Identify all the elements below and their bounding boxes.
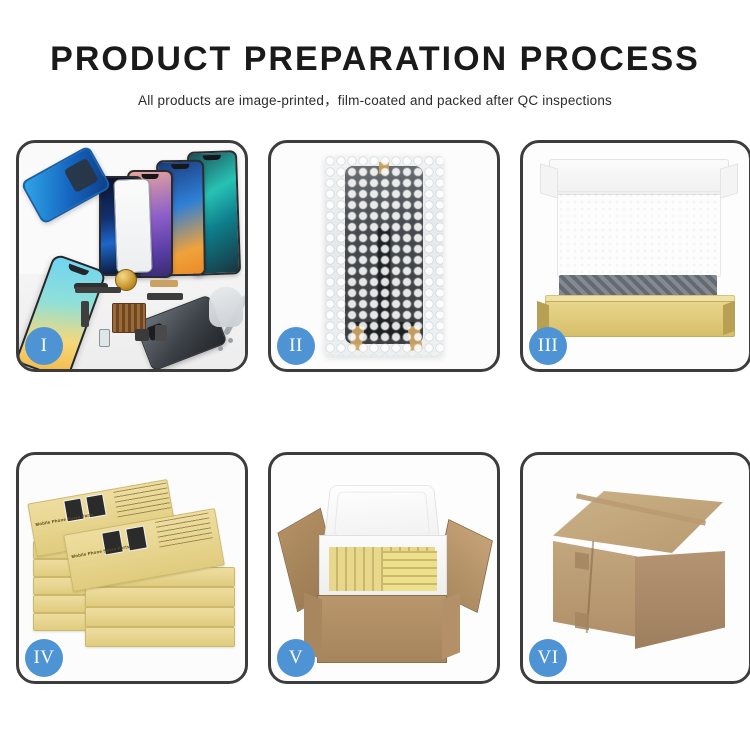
step-badge-6: VI — [529, 639, 567, 677]
step-panel-6: VI — [520, 452, 750, 684]
step-badge-1: I — [25, 327, 63, 365]
notch — [203, 155, 222, 161]
notch — [67, 264, 89, 277]
small-component-part — [155, 325, 167, 341]
screw-part — [228, 338, 233, 343]
technician-hand — [209, 287, 243, 327]
step-panel-3: III — [520, 140, 750, 372]
small-component-part — [135, 329, 149, 341]
bubble-wrap-bag — [325, 156, 443, 356]
step-panel-5: V — [268, 452, 500, 684]
flex-cable-part — [75, 287, 121, 293]
carton-body — [317, 595, 447, 663]
step-panel-2: II — [268, 140, 500, 372]
stacked-box — [85, 627, 235, 647]
gold-connector-part — [150, 280, 178, 287]
page-title: PRODUCT PREPARATION PROCESS — [0, 0, 750, 78]
carton-tab — [575, 552, 589, 570]
bubble-texture — [325, 156, 443, 356]
step-badge-2: II — [277, 327, 315, 365]
step-badge-5: V — [277, 639, 315, 677]
notch — [171, 164, 189, 169]
stacked-box — [85, 607, 235, 627]
step-badge-4: IV — [25, 639, 63, 677]
tempered-glass-panel — [113, 178, 152, 273]
box-lid — [549, 159, 729, 195]
process-step-grid: I II — [16, 140, 748, 684]
carton-front-face — [553, 541, 637, 637]
box-flap-right — [723, 301, 735, 335]
yellow-boxes-inside — [383, 551, 437, 591]
step-panel-1: I — [16, 140, 248, 372]
step-panel-4: Mobile Phone Spare Parts Mobile Phone Sp… — [16, 452, 248, 684]
carton-side-face — [635, 551, 725, 649]
flex-cable-part — [147, 293, 183, 300]
product-preparation-page: PRODUCT PREPARATION PROCESS All products… — [0, 0, 750, 750]
page-header: PRODUCT PREPARATION PROCESS All products… — [0, 0, 750, 109]
carton-tab — [575, 612, 589, 630]
screw-part — [218, 346, 223, 351]
stacked-box — [85, 587, 235, 607]
flex-cable-part — [81, 301, 89, 327]
foam-sheet — [557, 191, 721, 277]
camera-module-part — [99, 329, 110, 347]
step-badge-3: III — [529, 327, 567, 365]
page-subtitle: All products are image-printed，film-coat… — [0, 78, 750, 109]
yellow-box-body — [545, 301, 735, 337]
